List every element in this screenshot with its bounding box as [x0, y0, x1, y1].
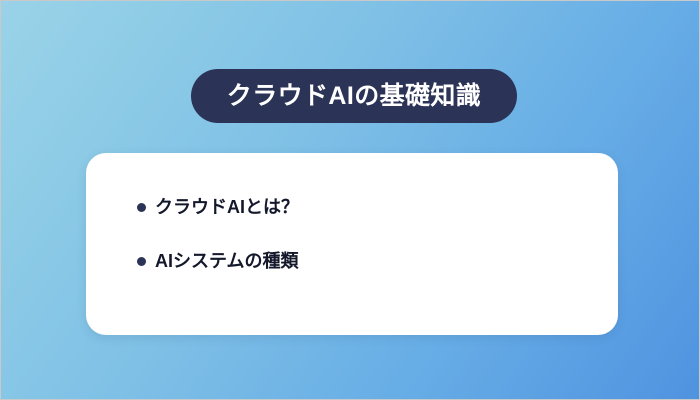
- presentation-slide: クラウドAIの基礎知識 クラウドAIとは？ AIシステムの種類: [0, 0, 700, 400]
- content-card: クラウドAIとは？ AIシステムの種類: [86, 153, 618, 335]
- list-item[interactable]: クラウドAIとは？: [137, 197, 618, 219]
- slide-title-text: クラウドAIの基礎知識: [227, 84, 481, 109]
- bullet-list: クラウドAIとは？ AIシステムの種類: [137, 197, 618, 272]
- bullet-dot-icon: [137, 203, 146, 212]
- list-item-label: クラウドAIとは？: [155, 197, 299, 219]
- slide-title-pill: クラウドAIの基礎知識: [191, 69, 517, 123]
- list-item-label: AIシステムの種類: [155, 251, 298, 273]
- bullet-dot-icon: [137, 257, 146, 266]
- list-item[interactable]: AIシステムの種類: [137, 251, 618, 273]
